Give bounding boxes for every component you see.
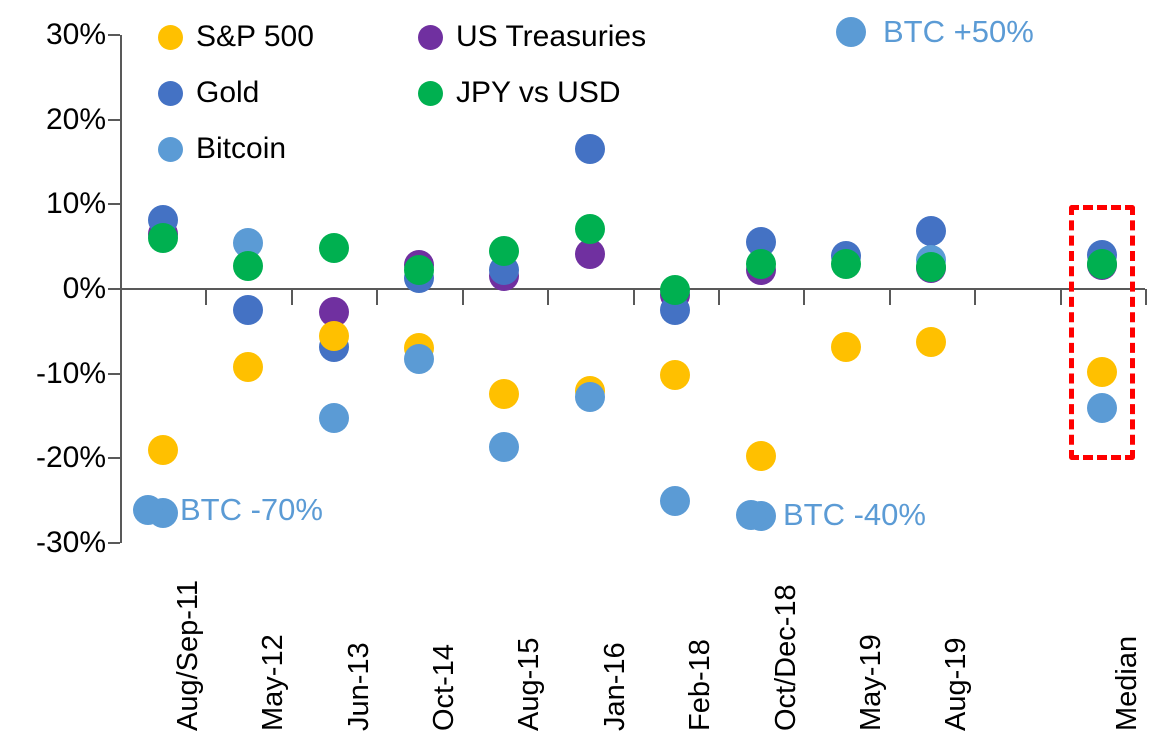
legend-item-s-p-500[interactable]: S&P 500 [158,22,314,52]
x-axis-tick-label: Oct/Dec-18 [772,584,801,731]
chart-root: 30%20%10%0%-10%-20%-30% Aug/Sep-11May-12… [0,0,1151,739]
data-point [746,249,776,279]
x-axis-tickmark [376,289,378,305]
annotation-btc-minus-70: BTC -70% [133,494,323,525]
data-point [660,486,690,516]
data-point [575,382,605,412]
x-axis-tick-label: Median [1113,636,1142,731]
data-point [831,332,861,362]
data-point [1087,393,1117,423]
annotation-label: BTC -70% [180,494,323,525]
legend-swatch-icon [418,25,443,50]
data-point [575,214,605,244]
y-axis-tickmark [108,34,120,36]
data-point [319,403,349,433]
y-axis-tick-label: -30% [36,528,106,558]
x-axis-tick-label: Jun-13 [345,642,374,731]
annotation-label: BTC -40% [783,499,926,530]
data-point [319,233,349,263]
x-axis-tickmark [974,289,976,305]
data-point [148,435,178,465]
x-axis-tick-label: Aug/Sep-11 [174,580,203,731]
y-axis-tick-label: 30% [46,20,106,50]
y-axis-tickmark [108,542,120,544]
y-axis-tick-label: -20% [36,443,106,473]
x-axis-tickmark [547,289,549,305]
x-axis-tickmark [462,289,464,305]
data-point [148,223,178,253]
x-axis-tick-label: Oct-14 [430,644,459,731]
legend-swatch-icon [158,25,183,50]
x-axis-tick-label: Feb-18 [686,639,715,731]
y-axis-tickmark [108,119,120,121]
y-axis-tickmark [108,203,120,205]
x-axis-tickmark [803,289,805,305]
data-point [575,134,605,164]
x-axis-tick-label: Jan-16 [601,642,630,731]
x-axis-tickmark [1145,289,1147,305]
data-point [404,255,434,285]
data-point [1087,249,1117,279]
legend-swatch-icon [158,81,183,106]
annotation-btc-minus-40: BTC -40% [736,499,926,530]
y-axis-tick-label: 20% [46,105,106,135]
x-axis-tick-label: May-12 [259,634,288,731]
x-axis-tickmark [633,289,635,305]
data-point [660,360,690,390]
legend-item-us-treasuries[interactable]: US Treasuries [418,22,646,52]
y-axis-tickmark [108,457,120,459]
x-axis-tick-label: Aug-19 [942,637,971,731]
legend-swatch-icon [158,137,183,162]
x-axis-zero-line [108,288,1145,290]
annotation-btc-plus-50: BTC +50% [836,16,1034,47]
data-point [319,321,349,351]
y-axis-tickmark [108,373,120,375]
data-point [746,441,776,471]
y-axis-tick-label: 0% [63,274,106,304]
x-axis-tickmark [718,289,720,305]
legend-item-jpy-vs-usd[interactable]: JPY vs USD [418,78,621,108]
btc-dot-icon [736,500,766,530]
annotation-label: BTC +50% [883,16,1034,47]
y-axis-tick-label: 10% [46,189,106,219]
legend-label: JPY vs USD [456,78,621,108]
x-axis-tickmark [889,289,891,305]
y-axis-tick-label: -10% [36,359,106,389]
legend-label: US Treasuries [456,22,646,52]
data-point [916,327,946,357]
x-axis-tickmark [291,289,293,305]
x-axis-tickmark [1060,289,1062,305]
btc-dot-icon [836,17,866,47]
x-axis-tick-label: May-19 [857,634,886,731]
legend-item-bitcoin[interactable]: Bitcoin [158,134,286,164]
legend-swatch-icon [418,81,443,106]
x-axis-tickmark [205,289,207,305]
data-point [831,249,861,279]
data-point [233,251,263,281]
legend-label: S&P 500 [196,22,314,52]
data-point [489,432,519,462]
data-point [233,352,263,382]
data-point [489,379,519,409]
data-point [233,295,263,325]
x-axis-tick-label: Aug-15 [515,637,544,731]
btc-dot-icon [133,495,163,525]
legend-label: Bitcoin [196,134,286,164]
data-point [404,344,434,374]
data-point [660,275,690,305]
legend-item-gold[interactable]: Gold [158,78,259,108]
data-point [916,216,946,246]
legend-label: Gold [196,78,259,108]
